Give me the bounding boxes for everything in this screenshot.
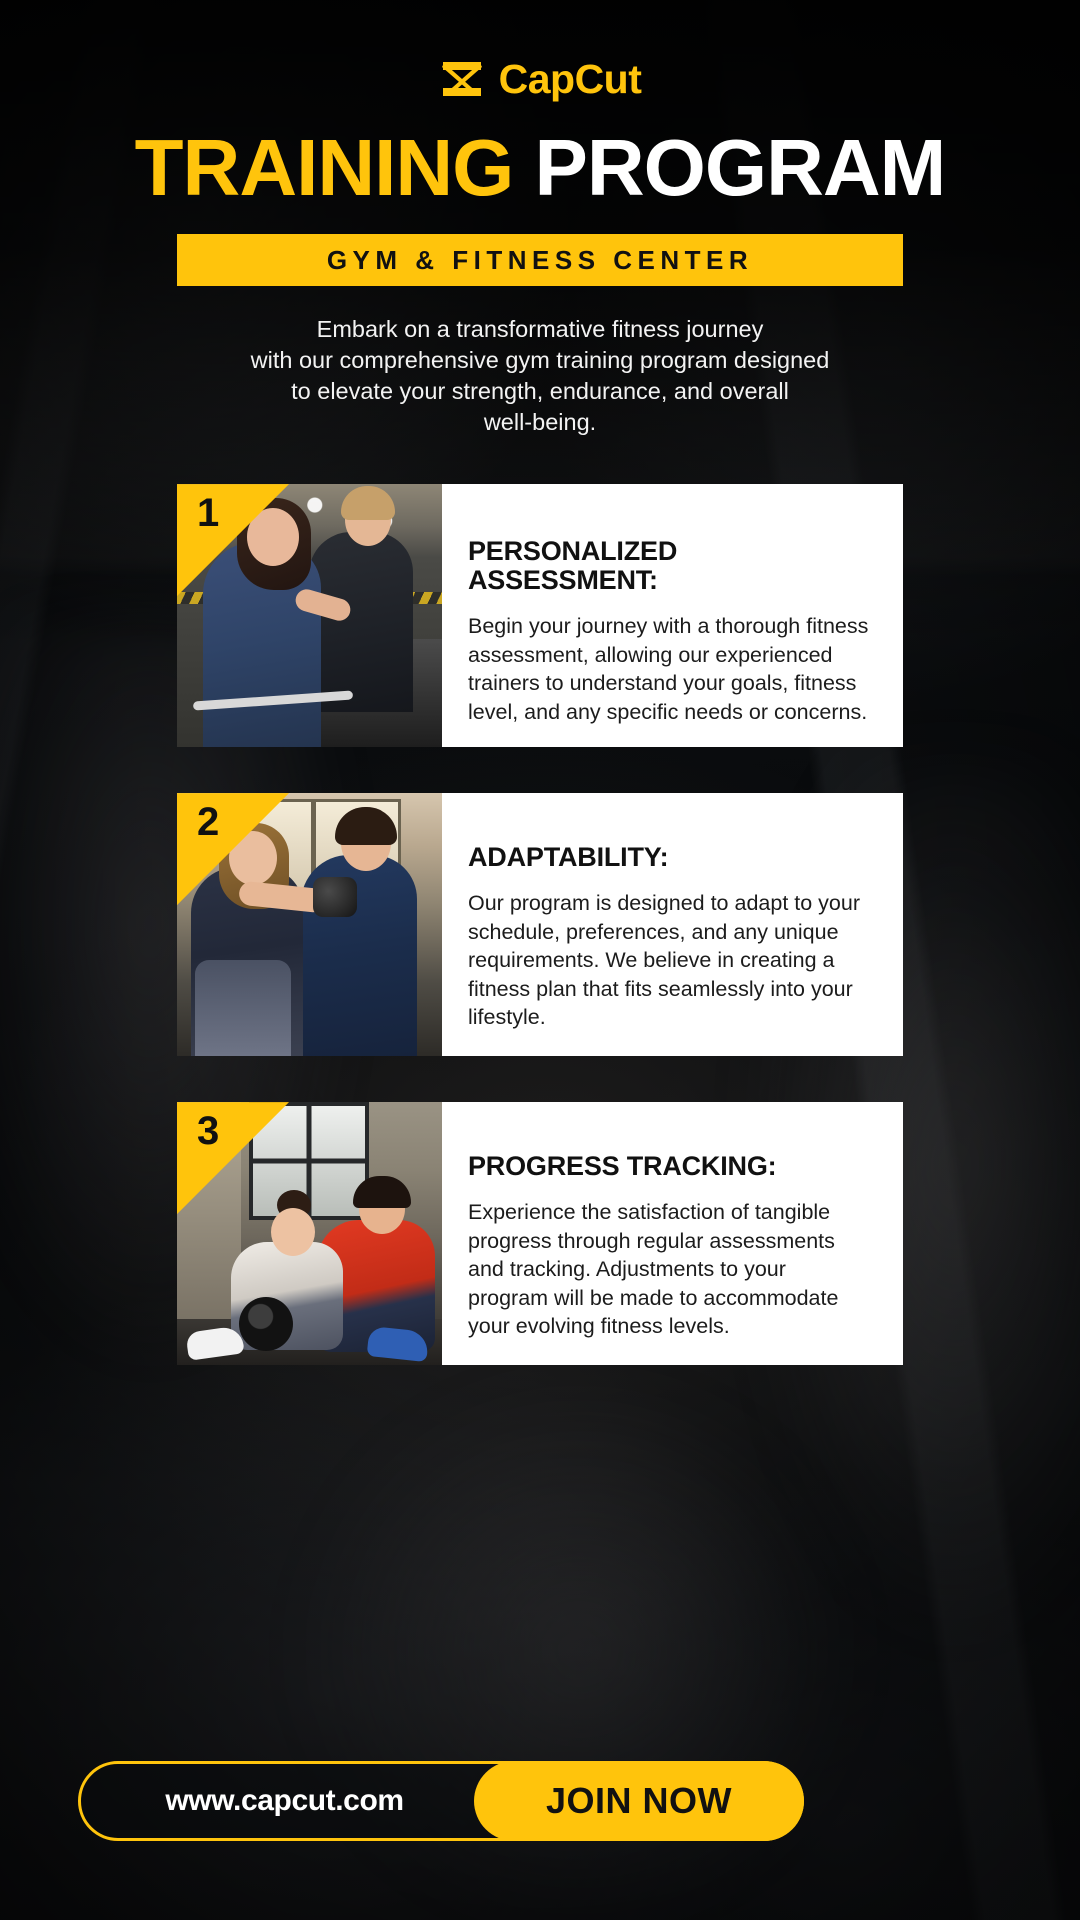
intro-line: with our comprehensive gym training prog… — [190, 345, 890, 376]
card-image: 1 — [177, 484, 442, 747]
website-url[interactable]: www.capcut.com — [81, 1784, 474, 1818]
join-now-button[interactable]: JOIN NOW — [474, 1761, 804, 1841]
feature-card[interactable]: 3 PROGRESS TRACKING: Experience the sati… — [177, 1102, 903, 1365]
card-body: PROGRESS TRACKING: Experience the satisf… — [442, 1102, 903, 1365]
card-heading: PERSONALIZED ASSESSMENT: — [468, 537, 869, 596]
card-text: Our program is designed to adapt to your… — [468, 889, 869, 1032]
card-text: Experience the satisfaction of tangible … — [468, 1198, 869, 1341]
brand-logo: CapCut — [0, 0, 1080, 100]
feature-card[interactable]: 1 PERSONALIZED ASSESSMENT: Begin your jo… — [177, 484, 903, 747]
card-image: 3 — [177, 1102, 442, 1365]
card-heading: PROGRESS TRACKING: — [468, 1152, 869, 1182]
card-number: 1 — [197, 493, 219, 533]
intro-paragraph: Embark on a transformative fitness journ… — [190, 314, 890, 438]
card-image: 2 — [177, 793, 442, 1056]
capcut-hourglass-icon — [439, 58, 485, 100]
feature-card[interactable]: 2 ADAPTABILITY: Our program is designed … — [177, 793, 903, 1056]
page-title-rest: PROGRAM — [535, 123, 946, 212]
page-title: TRAINING PROGRAM — [0, 128, 1080, 208]
card-number: 2 — [197, 802, 219, 842]
intro-line: well-being. — [190, 407, 890, 438]
card-text: Begin your journey with a thorough fitne… — [468, 612, 869, 726]
card-body: PERSONALIZED ASSESSMENT: Begin your jour… — [442, 484, 903, 747]
card-heading: ADAPTABILITY: — [468, 843, 869, 873]
footer-bar: www.capcut.com JOIN NOW — [78, 1761, 804, 1841]
card-body: ADAPTABILITY: Our program is designed to… — [442, 793, 903, 1056]
subtitle-banner: GYM & FITNESS CENTER — [177, 234, 903, 286]
page-title-highlight: TRAINING — [135, 123, 514, 212]
card-number: 3 — [197, 1111, 219, 1151]
subtitle-banner-text: GYM & FITNESS CENTER — [327, 247, 753, 273]
feature-card-list: 1 PERSONALIZED ASSESSMENT: Begin your jo… — [0, 484, 1080, 1365]
brand-wordmark: CapCut — [499, 59, 642, 100]
intro-line: to elevate your strength, endurance, and… — [190, 376, 890, 407]
intro-line: Embark on a transformative fitness journ… — [190, 314, 890, 345]
